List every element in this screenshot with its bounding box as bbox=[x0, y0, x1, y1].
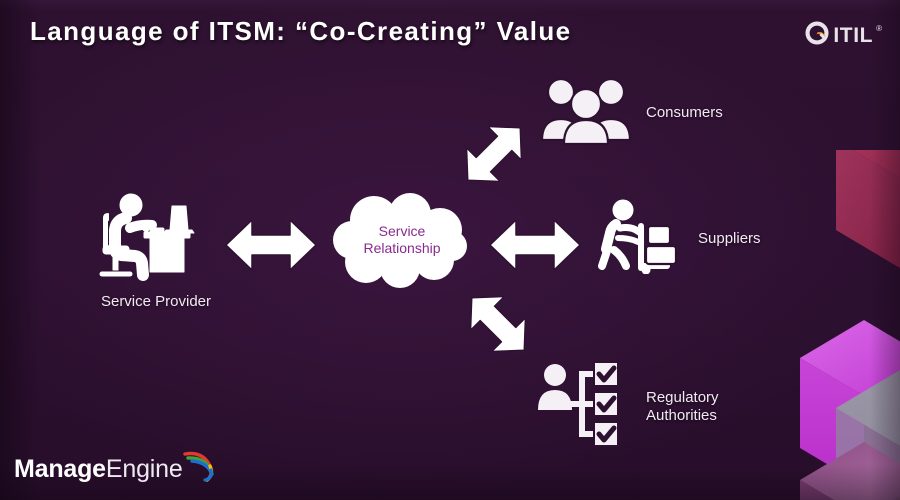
diagram-node-regulatory-authorities[interactable]: Regulatory Authorities bbox=[532, 360, 719, 453]
service-relationship-cloud[interactable]: Service Relationship bbox=[328, 192, 476, 288]
diagram-node-label-regulatory-authorities: Regulatory Authorities bbox=[646, 389, 719, 424]
manageengine-logo: Manage Engine bbox=[14, 448, 215, 490]
double-arrow-diagonal-down-icon bbox=[456, 282, 540, 371]
double-arrow-horizontal-icon-suppliers bbox=[488, 214, 582, 281]
double-arrow-diagonal-up-icon bbox=[452, 112, 536, 201]
diagram-node-consumers[interactable]: Consumers bbox=[540, 74, 723, 151]
itil-trademark: ® bbox=[876, 24, 882, 33]
diagram-node-suppliers[interactable]: Suppliers bbox=[598, 198, 761, 279]
double-arrow-horizontal-icon-provider bbox=[224, 214, 318, 281]
manageengine-swoosh-icon bbox=[181, 448, 215, 487]
diagram-node-label-service-provider: Service Provider bbox=[86, 293, 226, 310]
cloud-shape-icon bbox=[328, 192, 476, 288]
diagram-node-service-provider[interactable]: Service Provider bbox=[86, 186, 226, 310]
group-of-people-icon bbox=[540, 74, 632, 151]
manageengine-word-engine: Engine bbox=[106, 455, 183, 484]
person-at-desk-icon bbox=[86, 186, 226, 291]
diagram-node-label-suppliers: Suppliers bbox=[698, 230, 761, 247]
person-pushing-cart-icon bbox=[598, 198, 684, 279]
itil-wordmark: ITIL bbox=[833, 24, 873, 48]
slide-canvas: Language of ITSM: “Co-Creating” Value IT… bbox=[0, 0, 900, 500]
page-title: Language of ITSM: “Co-Creating” Value bbox=[30, 16, 572, 47]
itil-circle-q-icon bbox=[804, 20, 830, 51]
person-with-checklist-icon bbox=[532, 360, 632, 453]
diagram-node-label-consumers: Consumers bbox=[646, 104, 723, 121]
isometric-cubes-icon bbox=[788, 150, 900, 500]
manageengine-word-manage: Manage bbox=[14, 455, 106, 484]
itil-logo: ITIL ® bbox=[804, 20, 882, 51]
